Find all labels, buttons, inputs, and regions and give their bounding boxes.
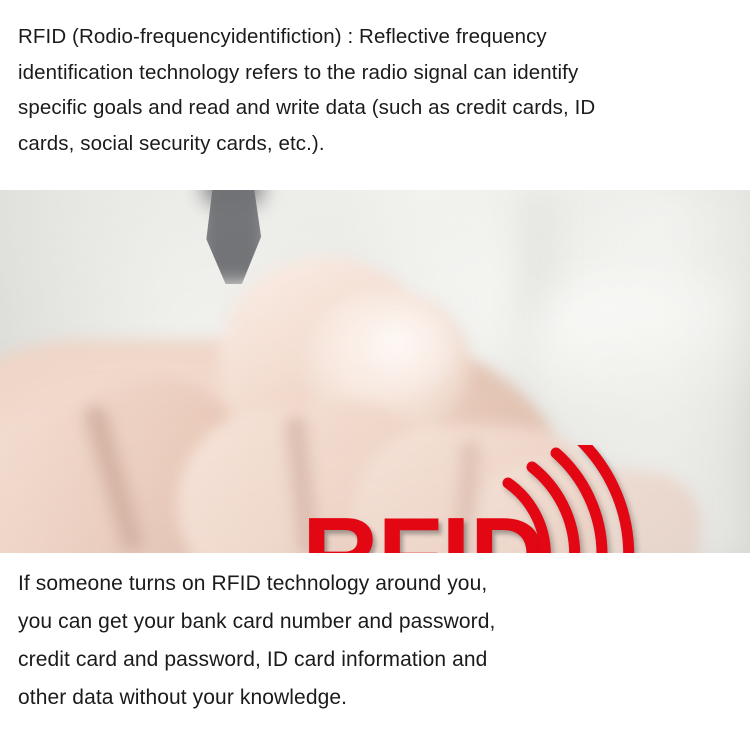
bottom-text-line-1: If someone turns on RFID technology arou… [18, 565, 740, 603]
rfid-hero-photo: RFID [0, 190, 750, 553]
bottom-description-paragraph: If someone turns on RFID technology arou… [0, 553, 750, 750]
product-info-page: RFID (Rodio-frequencyidentifiction) : Re… [0, 0, 750, 750]
top-text-line-1: RFID (Rodio-frequencyidentifiction) : Re… [18, 19, 736, 55]
bottom-text-line-2: you can get your bank card number and pa… [18, 603, 740, 641]
top-text-line-4: cards, social security cards, etc.). [18, 126, 736, 162]
bottom-text-line-4: other data without your knowledge. [18, 679, 740, 717]
top-text-line-3: specific goals and read and write data (… [18, 90, 736, 126]
bottom-text-line-3: credit card and password, ID card inform… [18, 641, 740, 679]
top-description-paragraph: RFID (Rodio-frequencyidentifiction) : Re… [0, 0, 750, 190]
blurred-hand [0, 190, 750, 553]
top-text-line-2: identification technology refers to the … [18, 55, 736, 91]
